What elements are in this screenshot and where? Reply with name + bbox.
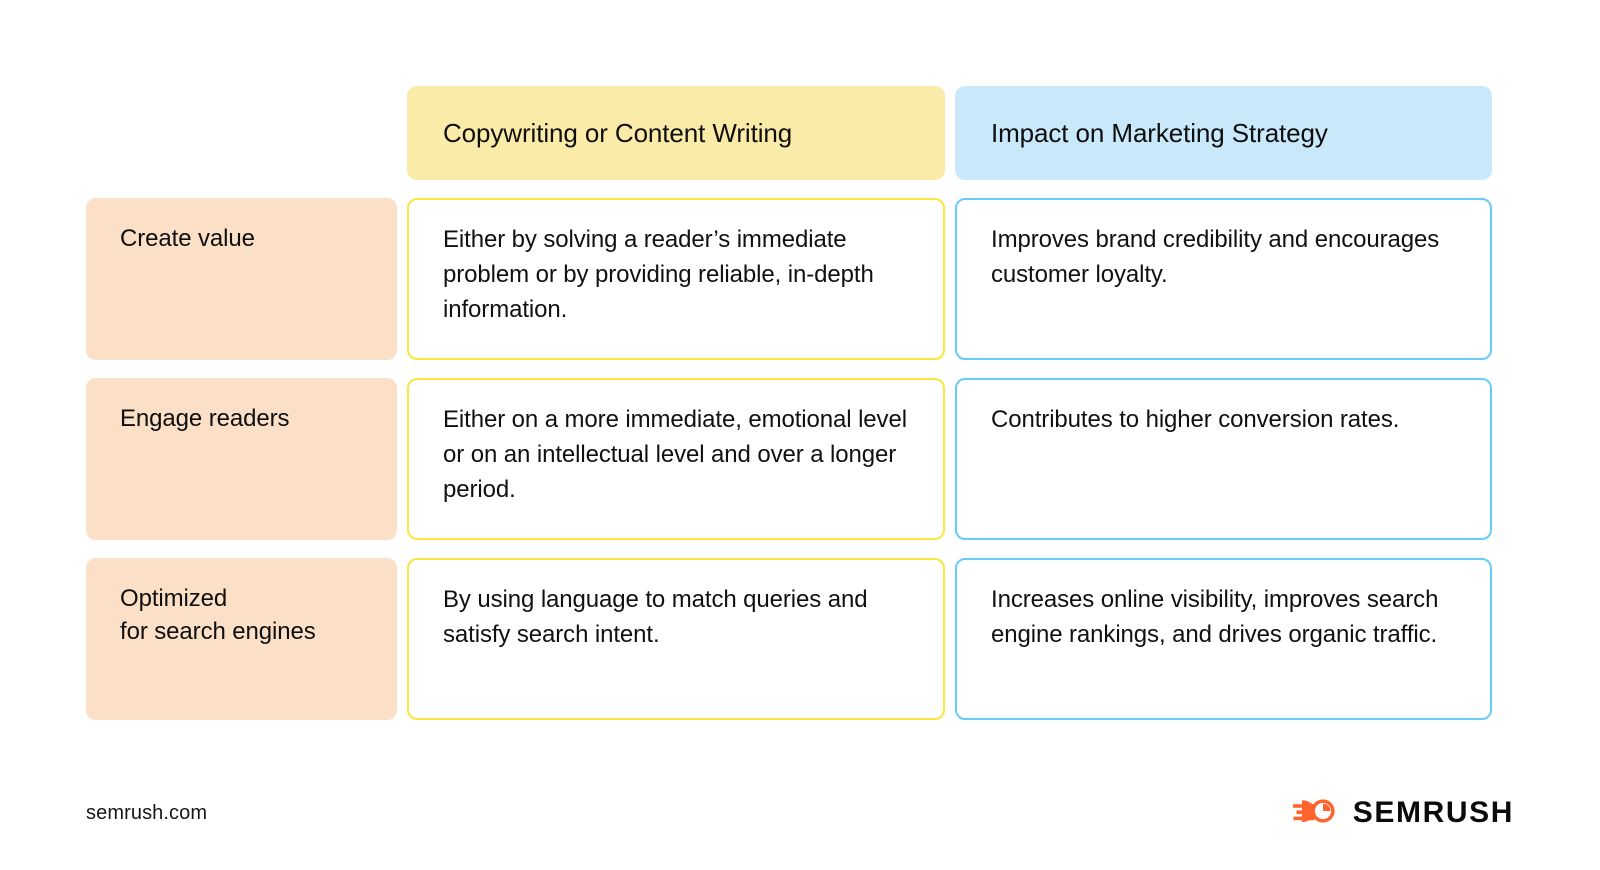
row-1-copywriting-cell: Either on a more immediate, emotional le…	[407, 378, 945, 540]
header-cell-impact-on-marketing-strategy: Impact on Marketing Strategy	[955, 86, 1492, 180]
semrush-logo: SEMRUSH	[1293, 794, 1514, 833]
comparison-table: Copywriting or Content Writing Impact on…	[86, 86, 1486, 720]
header-cell-copywriting-or-content-writing: Copywriting or Content Writing	[407, 86, 945, 180]
row-label-optimized-for-search-engines: Optimized for search engines	[86, 558, 397, 720]
header-empty-corner	[86, 86, 397, 180]
row-2-impact-cell: Increases online visibility, improves se…	[955, 558, 1492, 720]
table-row: Engage readers Either on a more immediat…	[86, 378, 1486, 540]
row-label-engage-readers: Engage readers	[86, 378, 397, 540]
infographic-page: Copywriting or Content Writing Impact on…	[0, 0, 1600, 870]
row-label-create-value: Create value	[86, 198, 397, 360]
row-0-copywriting-cell: Either by solving a reader’s immediate p…	[407, 198, 945, 360]
row-0-impact-cell: Improves brand credibility and encourage…	[955, 198, 1492, 360]
table-row: Create value Either by solving a reader’…	[86, 198, 1486, 360]
footer: semrush.com SEMRUSH	[86, 793, 1514, 833]
row-1-impact-cell: Contributes to higher conversion rates.	[955, 378, 1492, 540]
semrush-wordmark: SEMRUSH	[1353, 796, 1514, 830]
row-2-copywriting-cell: By using language to match queries and s…	[407, 558, 945, 720]
table-row: Optimized for search engines By using la…	[86, 558, 1486, 720]
semrush-comet-icon	[1293, 794, 1341, 833]
table-header-row: Copywriting or Content Writing Impact on…	[86, 86, 1486, 180]
footer-source-url: semrush.com	[86, 802, 207, 825]
